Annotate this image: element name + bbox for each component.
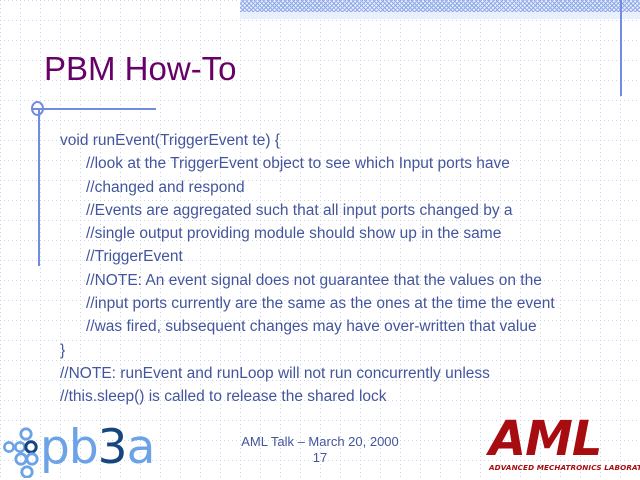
grid-line-vertical (0, 0, 1, 480)
code-line: //this.sleep() is called to release the … (60, 385, 620, 408)
code-line: //was fired, subsequent changes may have… (60, 315, 620, 338)
grid-line-vertical (20, 0, 21, 480)
pb3a-word-part2: 3 (98, 420, 127, 475)
left-accent-vertical-line (38, 108, 40, 266)
code-line: //Events are aggregated such that all in… (60, 199, 620, 222)
aml-wordmark: AML (489, 413, 602, 465)
grid-line-horizontal (0, 100, 640, 101)
code-line: //single output providing module should … (60, 222, 620, 245)
pb3a-wordmark: pb3a (40, 420, 154, 476)
pb3a-word-part3: a (127, 420, 155, 475)
title-underline (33, 108, 156, 110)
grid-line-horizontal (0, 120, 640, 121)
aml-tagline: ADVANCED MECHATRONICS LABORATORY (489, 463, 637, 472)
code-line: //NOTE: An event signal does not guarant… (60, 269, 620, 292)
pb3a-word-part1: pb (40, 420, 98, 475)
code-line: //TriggerEvent (60, 245, 620, 268)
grid-line-horizontal (0, 40, 640, 41)
page-title: PBM How-To (44, 49, 237, 89)
code-line: //changed and respond (60, 176, 620, 199)
code-line: //look at the TriggerEvent object to see… (60, 152, 620, 175)
code-line: } (60, 339, 620, 362)
pb3a-logo: pb3a (2, 420, 182, 480)
aml-logo: AML ADVANCED MECHATRONICS LABORATORY (489, 419, 637, 477)
code-line: void runEvent(TriggerEvent te) { (60, 129, 620, 152)
slide-canvas: PBM How-To void runEvent(TriggerEvent te… (0, 0, 640, 480)
accent-circle-icon (31, 101, 44, 116)
code-line: //NOTE: runEvent and runLoop will not ru… (60, 362, 620, 385)
right-vertical-rule (620, 0, 622, 96)
top-band-fill (240, 12, 640, 19)
grid-line-vertical (40, 0, 41, 480)
footer-talk-line: AML Talk – March 20, 2000 (241, 434, 399, 449)
top-checkered-band (240, 0, 640, 12)
code-line: //input ports currently are the same as … (60, 292, 620, 315)
code-body: void runEvent(TriggerEvent te) {//look a… (60, 129, 620, 409)
grid-line-horizontal (0, 20, 640, 21)
